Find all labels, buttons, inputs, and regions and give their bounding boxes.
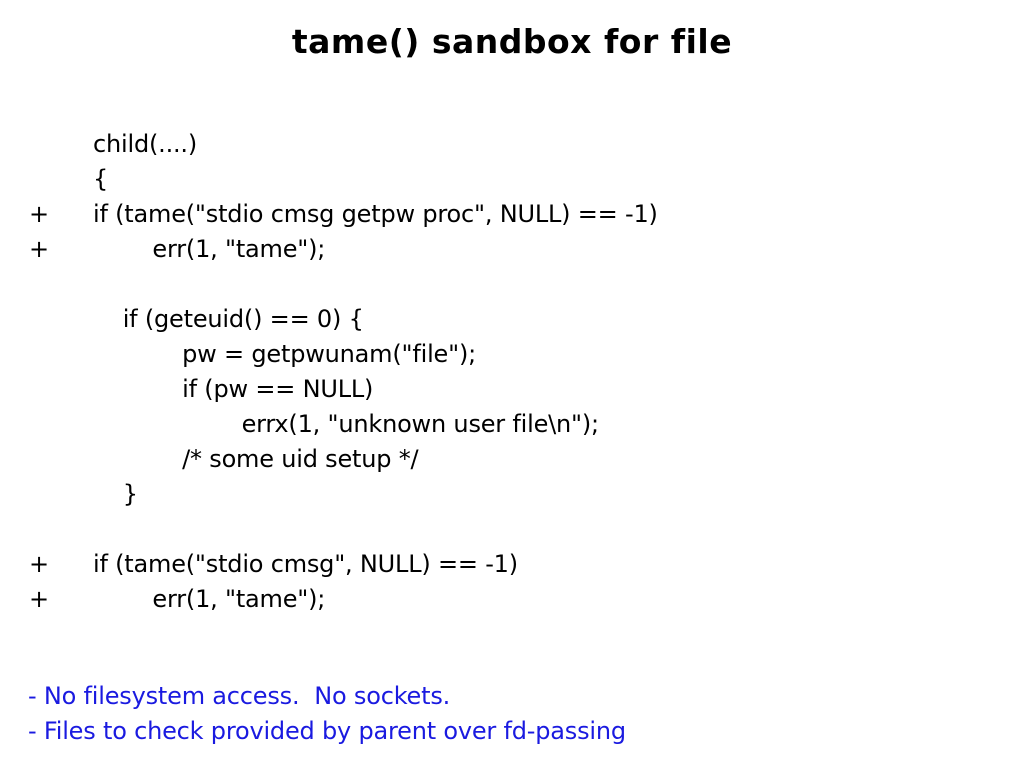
code-line-text: if (geteuid() == 0) {	[93, 305, 364, 333]
code-line-text	[93, 515, 100, 543]
slide-canvas: tame() sandbox for file child(....){+if …	[0, 0, 1024, 768]
code-line-text: err(1, "tame");	[93, 235, 325, 263]
code-line	[29, 267, 994, 302]
code-line: if (geteuid() == 0) {	[29, 302, 994, 337]
code-line: + err(1, "tame");	[29, 232, 994, 267]
code-line-text: if (tame("stdio cmsg getpw proc", NULL) …	[93, 200, 658, 228]
diff-marker: +	[29, 582, 93, 617]
diff-marker: +	[29, 197, 93, 232]
notes-block: - No filesystem access. No sockets.- Fil…	[28, 679, 993, 749]
code-line-text: child(....)	[93, 130, 197, 158]
code-line-text: }	[93, 480, 138, 508]
note-line: - No filesystem access. No sockets.	[28, 679, 993, 714]
code-line-text: pw = getpwunam("file");	[93, 340, 476, 368]
code-line: pw = getpwunam("file");	[29, 337, 994, 372]
code-line-text: /* some uid setup */	[93, 445, 418, 473]
diff-marker: +	[29, 547, 93, 582]
code-line-text: {	[93, 165, 108, 193]
code-line: +if (tame("stdio cmsg getpw proc", NULL)…	[29, 197, 994, 232]
code-line-text: err(1, "tame");	[93, 585, 325, 613]
code-line-text: errx(1, "unknown user file\n");	[93, 410, 599, 438]
code-line-text: if (pw == NULL)	[93, 375, 373, 403]
code-line: /* some uid setup */	[29, 442, 994, 477]
code-line	[29, 512, 994, 547]
code-line: +if (tame("stdio cmsg", NULL) == -1)	[29, 547, 994, 582]
code-line: }	[29, 477, 994, 512]
note-line: - Files to check provided by parent over…	[28, 714, 993, 749]
code-line: + err(1, "tame");	[29, 582, 994, 617]
code-block: child(....){+if (tame("stdio cmsg getpw …	[29, 127, 994, 617]
code-line-text: if (tame("stdio cmsg", NULL) == -1)	[93, 550, 518, 578]
code-line-text	[93, 270, 100, 298]
code-line: {	[29, 162, 994, 197]
code-line: if (pw == NULL)	[29, 372, 994, 407]
page-title: tame() sandbox for file	[0, 22, 1024, 62]
diff-marker: +	[29, 232, 93, 267]
code-line: child(....)	[29, 127, 994, 162]
code-line: errx(1, "unknown user file\n");	[29, 407, 994, 442]
